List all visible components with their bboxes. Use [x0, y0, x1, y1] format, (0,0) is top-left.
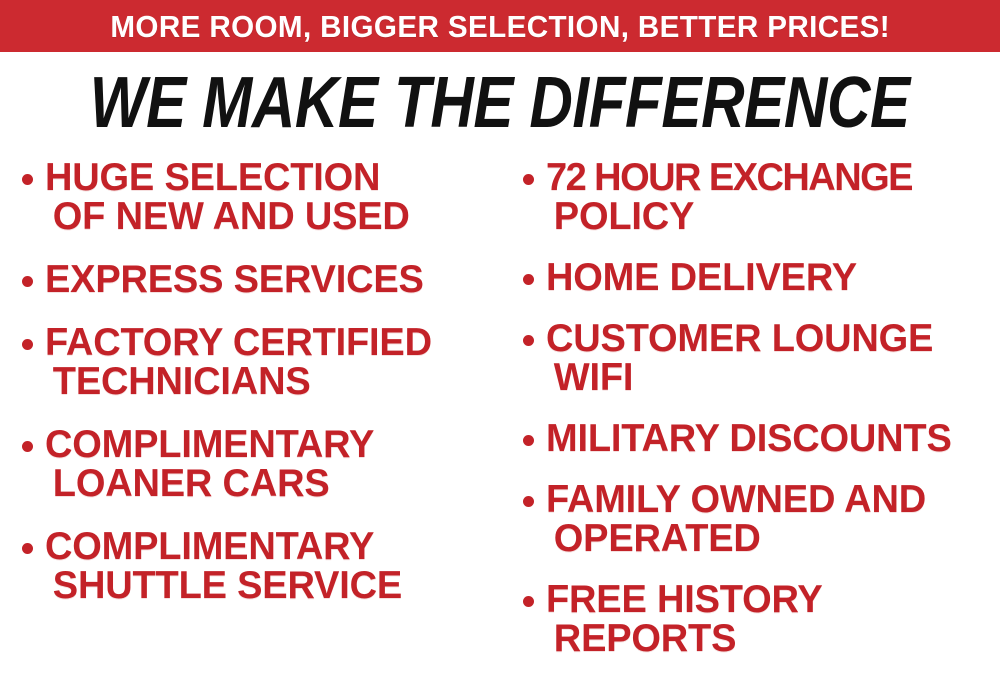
benefits-column-right: 72 HOUR EXCHANGEPOLICY HOME DELIVERY CUS…: [523, 158, 1000, 680]
list-item: HUGE SELECTIONOF NEW AND USED: [22, 158, 492, 236]
list-item-label: COMPLIMENTARYSHUTTLE SERVICE: [45, 527, 481, 605]
list-item: FAMILY OWNED ANDOPERATED: [523, 480, 1000, 558]
list-item-line1: HOME DELIVERY: [546, 256, 857, 299]
top-banner: MORE ROOM, BIGGER SELECTION, BETTER PRIC…: [0, 0, 1000, 52]
bullet-dot-icon: [22, 276, 33, 287]
list-item-line1: FAMILY OWNED AND: [546, 478, 926, 521]
bullet-dot-icon: [523, 174, 534, 185]
list-item-line2: SHUTTLE SERVICE: [45, 566, 481, 605]
list-item-line1: MILITARY DISCOUNTS: [546, 417, 952, 460]
list-item-line2: TECHNICIANS: [45, 362, 481, 401]
list-item-line2: POLICY: [546, 197, 989, 236]
list-item: HOME DELIVERY: [523, 258, 1000, 297]
list-item-line1: FACTORY CERTIFIED: [45, 321, 432, 364]
list-item: EXPRESS SERVICES: [22, 260, 492, 299]
list-item: COMPLIMENTARYLOANER CARS: [22, 425, 492, 503]
list-item-line1: HUGE SELECTION: [45, 156, 380, 199]
list-item-label: HOME DELIVERY: [546, 258, 989, 297]
list-item-line2: LOANER CARS: [45, 464, 481, 503]
bullet-dot-icon: [523, 274, 534, 285]
top-banner-text: MORE ROOM, BIGGER SELECTION, BETTER PRIC…: [110, 11, 890, 42]
list-item-label: FACTORY CERTIFIEDTECHNICIANS: [45, 323, 481, 401]
list-item-label: 72 HOUR EXCHANGEPOLICY: [546, 158, 989, 236]
list-item-line2: OPERATED: [546, 519, 989, 558]
list-item-label: COMPLIMENTARYLOANER CARS: [45, 425, 481, 503]
benefits-column-left: HUGE SELECTIONOF NEW AND USED EXPRESS SE…: [22, 158, 492, 629]
bullet-dot-icon: [22, 174, 33, 185]
list-item: COMPLIMENTARYSHUTTLE SERVICE: [22, 527, 492, 605]
headline-text: WE MAKE THE DIFFERENCE: [90, 66, 910, 138]
list-item: MILITARY DISCOUNTS: [523, 419, 1000, 458]
bullet-dot-icon: [22, 339, 33, 350]
bullet-dot-icon: [22, 441, 33, 452]
page-title: WE MAKE THE DIFFERENCE: [0, 66, 1000, 136]
list-item-line1: 72 HOUR EXCHANGE: [546, 156, 912, 199]
list-item-line1: EXPRESS SERVICES: [45, 258, 424, 301]
list-item-line1: COMPLIMENTARY: [45, 525, 374, 568]
list-item-label: HUGE SELECTIONOF NEW AND USED: [45, 158, 481, 236]
promo-poster: MORE ROOM, BIGGER SELECTION, BETTER PRIC…: [0, 0, 1000, 694]
list-item-label: FAMILY OWNED ANDOPERATED: [546, 480, 989, 558]
list-item: CUSTOMER LOUNGEWIFI: [523, 319, 1000, 397]
list-item-line1: COMPLIMENTARY: [45, 423, 374, 466]
bullet-dot-icon: [523, 335, 534, 346]
bullet-dot-icon: [523, 496, 534, 507]
list-item-line2: OF NEW AND USED: [45, 197, 481, 236]
list-item: 72 HOUR EXCHANGEPOLICY: [523, 158, 1000, 236]
bullet-dot-icon: [523, 435, 534, 446]
benefits-columns: HUGE SELECTIONOF NEW AND USED EXPRESS SE…: [0, 158, 1000, 694]
list-item-label: EXPRESS SERVICES: [45, 260, 481, 299]
bullet-dot-icon: [523, 596, 534, 607]
list-item-line2: REPORTS: [546, 619, 989, 658]
list-item-line1: FREE HISTORY: [546, 578, 823, 621]
list-item-line2: WIFI: [546, 358, 989, 397]
bullet-dot-icon: [22, 543, 33, 554]
list-item: FREE HISTORYREPORTS: [523, 580, 1000, 658]
list-item-label: FREE HISTORYREPORTS: [546, 580, 989, 658]
list-item-label: MILITARY DISCOUNTS: [546, 419, 989, 458]
list-item-line1: CUSTOMER LOUNGE: [546, 317, 933, 360]
list-item: FACTORY CERTIFIEDTECHNICIANS: [22, 323, 492, 401]
list-item-label: CUSTOMER LOUNGEWIFI: [546, 319, 989, 397]
